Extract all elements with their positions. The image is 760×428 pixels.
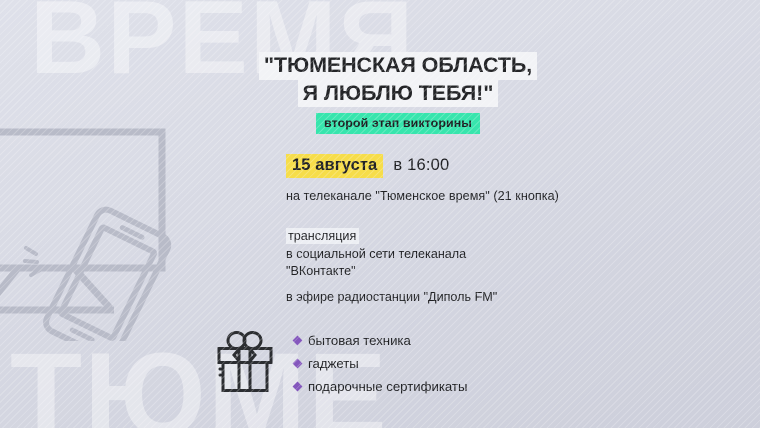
- prize-label: бытовая техника: [308, 334, 411, 347]
- broadcast-block: трансляция в социальной сети телеканала …: [286, 227, 706, 305]
- list-item: бытовая техника: [294, 329, 467, 352]
- list-item: подарочные сертификаты: [294, 375, 467, 398]
- broadcast-line-2: "ВКонтакте": [286, 263, 706, 279]
- promo-slide: ВРЕМЯ ТЮМЕ "ТЮМЕНС: [0, 0, 760, 428]
- diamond-bullet-icon: [293, 335, 303, 345]
- channel-info: на телеканале "Тюменское время" (21 кноп…: [286, 189, 706, 203]
- content-column: "ТЮМЕНСКАЯ ОБЛАСТЬ, Я ЛЮБЛЮ ТЕБЯ!" второ…: [206, 52, 706, 399]
- gift-box-icon: [214, 328, 276, 399]
- diamond-bullet-icon: [293, 359, 303, 369]
- event-date: 15 августа: [286, 154, 383, 178]
- broadcast-line-3: в эфире радиостанции "Диполь FM": [286, 289, 706, 305]
- event-time: в 16:00: [393, 156, 449, 175]
- title-line-2: Я ЛЮБЛЮ ТЕБЯ!": [298, 80, 499, 108]
- prizes-block: бытовая техника гаджеты подарочные серти…: [214, 328, 706, 399]
- smartphone-outline-icon: [43, 206, 172, 341]
- page-title: "ТЮМЕНСКАЯ ОБЛАСТЬ, Я ЛЮБЛЮ ТЕБЯ!": [228, 52, 568, 107]
- title-line-1: "ТЮМЕНСКАЯ ОБЛАСТЬ,: [259, 52, 537, 80]
- broadcast-line-1: в социальной сети телеканала: [286, 246, 706, 262]
- prize-list: бытовая техника гаджеты подарочные серти…: [294, 329, 467, 399]
- schedule-date-row: 15 августа в 16:00: [286, 154, 706, 178]
- broadcast-heading: трансляция: [286, 228, 359, 244]
- list-item: гаджеты: [294, 352, 467, 375]
- diamond-bullet-icon: [293, 382, 303, 392]
- subtitle-badge: второй этап викторины: [316, 113, 480, 134]
- subtitle-row: второй этап викторины: [228, 113, 568, 134]
- prize-label: гаджеты: [308, 357, 359, 370]
- tv-phone-illustration: [0, 126, 224, 341]
- prize-label: подарочные сертификаты: [308, 380, 467, 393]
